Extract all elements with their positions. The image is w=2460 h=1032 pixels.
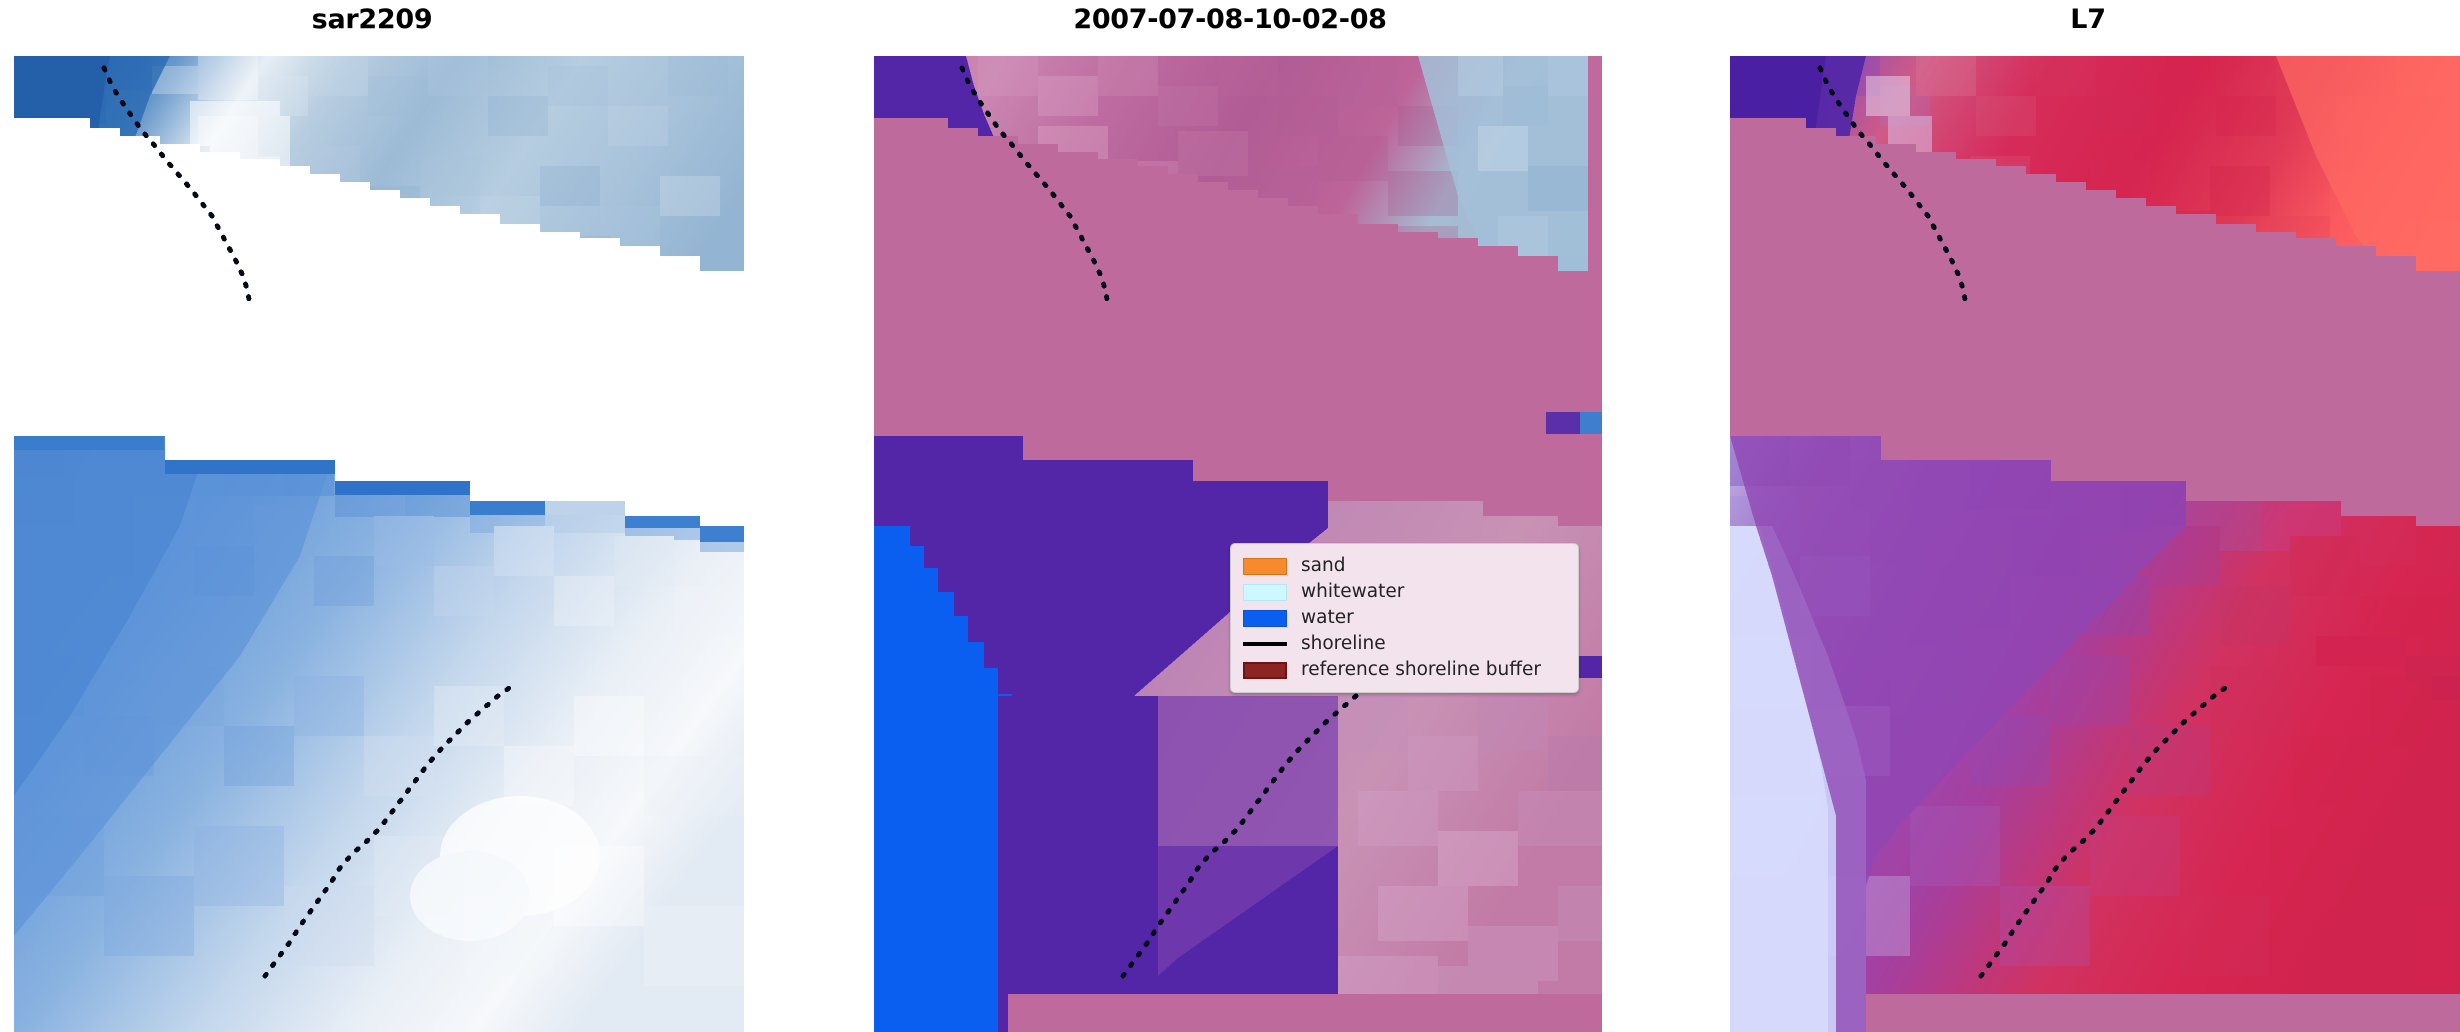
water-swatch-icon (1243, 610, 1287, 627)
legend-label-whitewater: whitewater (1301, 583, 1404, 602)
panel-title-date: 2007-07-08-10-02-08 (858, 4, 1602, 35)
raster-l7 (1716, 56, 2460, 1032)
panel-l7: L7 (1716, 0, 2460, 1032)
whitewater-swatch-icon (1243, 584, 1287, 601)
legend-label-shoreline: shoreline (1301, 635, 1386, 654)
panel-sar2209: sar2209 (0, 0, 744, 1032)
reference-buffer-swatch-icon (1243, 662, 1287, 679)
axes-l7[interactable] (1716, 56, 2460, 1032)
shoreline-line-icon (1243, 642, 1287, 646)
legend-label-reference-shoreline-buffer: reference shoreline buffer (1301, 661, 1541, 680)
panel-title-sar2209: sar2209 (0, 4, 744, 35)
classification-legend[interactable]: sand whitewater water shoreline referenc… (1230, 543, 1579, 693)
legend-item-reference-shoreline-buffer: reference shoreline buffer (1243, 657, 1568, 683)
panel-2007-07-08-10-02-08: 2007-07-08-10-02-08 (858, 0, 1602, 1032)
legend-label-water: water (1301, 609, 1354, 628)
sand-swatch-icon (1243, 558, 1287, 575)
legend-item-water: water (1243, 605, 1568, 631)
raster-sar2209 (0, 56, 744, 1032)
panel-title-l7: L7 (1716, 4, 2460, 35)
legend-label-sand: sand (1301, 557, 1345, 576)
legend-item-whitewater: whitewater (1243, 579, 1568, 605)
legend-item-shoreline: shoreline (1243, 631, 1568, 657)
axes-sar2209[interactable] (0, 56, 744, 1032)
figure-canvas: sar2209 (0, 0, 2460, 1032)
legend-item-sand: sand (1243, 553, 1568, 579)
